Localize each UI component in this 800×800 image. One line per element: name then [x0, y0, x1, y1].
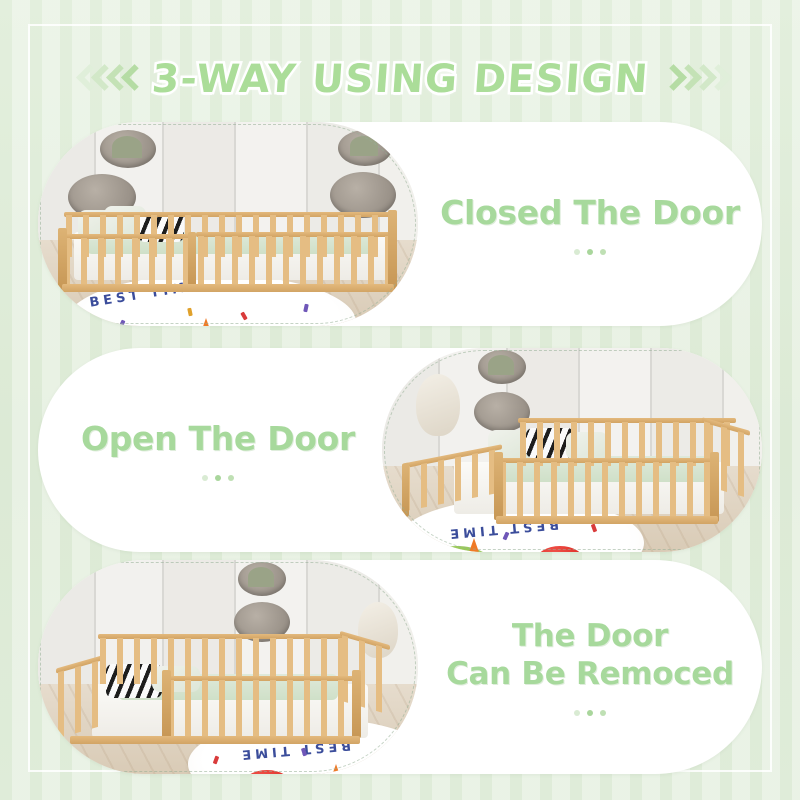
card-caption-block: Closed The Door	[418, 122, 762, 326]
chevron-left-icon	[93, 64, 108, 94]
feature-card: Open The Door BEST TIME	[38, 348, 762, 552]
chevron-right-icon	[662, 64, 677, 94]
caption-text: Open The Door	[81, 419, 355, 459]
plush-toy	[248, 567, 274, 587]
door-opening-gap	[68, 678, 168, 682]
chevron-right-icon	[692, 64, 707, 94]
bed-slats-front	[198, 236, 390, 284]
bed-base-frame	[70, 736, 360, 744]
chevron-left-icon	[78, 64, 93, 94]
bed-slats-front	[168, 680, 354, 736]
dot	[215, 475, 221, 481]
party-hat-graphic	[328, 764, 344, 774]
plush-toy	[112, 136, 142, 158]
balloon-graphic	[242, 770, 292, 774]
dot	[574, 249, 580, 255]
dot-indicator	[574, 249, 606, 255]
bed-post	[388, 210, 397, 290]
chevron-left-icon	[108, 64, 123, 94]
wall-niche	[338, 130, 392, 166]
dot	[587, 249, 593, 255]
wall-niche	[100, 130, 156, 168]
room-scene: BEST TIME	[38, 122, 418, 326]
plush-toy	[488, 355, 514, 375]
dot	[600, 249, 606, 255]
bed-post	[352, 670, 361, 738]
bed-post	[58, 228, 67, 290]
poster-root: 3-WAY USING DESIGN	[0, 0, 800, 800]
caption-group: The Door Can Be Remoced	[446, 618, 734, 694]
bed-base-frame	[496, 516, 718, 524]
product-photo: BEST TIME	[38, 122, 418, 326]
caption-text: Closed The Door	[440, 193, 740, 233]
caption-text-line2: Can Be Remoced	[446, 656, 734, 694]
door-gate-slats	[64, 238, 192, 284]
room-scene: BEST TIME	[38, 560, 418, 774]
plush-toy	[350, 136, 378, 156]
floor-bed	[402, 402, 758, 532]
dot	[202, 475, 208, 481]
door-gate-latch-post	[188, 232, 196, 286]
confetti	[240, 312, 247, 321]
party-hat-graphic	[466, 538, 482, 552]
dot	[228, 475, 234, 481]
product-photo: BEST TIME	[382, 348, 762, 552]
floor-bed	[52, 198, 402, 302]
chevron-left-group	[78, 64, 138, 94]
confetti	[187, 308, 193, 317]
feature-card: BEST TIME	[38, 560, 762, 774]
bed-post	[710, 452, 719, 522]
card-caption-block: Open The Door	[38, 348, 398, 552]
caption-text-line1: The Door	[446, 618, 734, 656]
balloon-graphic	[536, 546, 584, 552]
chevron-right-group	[662, 64, 722, 94]
bed-post	[494, 452, 503, 520]
bed-post	[162, 670, 171, 738]
card-caption-block: The Door Can Be Remoced	[418, 560, 762, 774]
dot-indicator	[574, 710, 606, 716]
bed-base-frame	[62, 284, 394, 292]
chevron-left-icon	[123, 64, 138, 94]
wall-niche	[478, 350, 526, 384]
party-hat-graphic	[198, 318, 214, 326]
door-gate-slats	[404, 449, 500, 512]
dot	[587, 710, 593, 716]
crocodile-graphic	[420, 546, 494, 552]
product-photo: BEST TIME	[38, 560, 418, 774]
wall-niche	[238, 562, 286, 596]
bed-slats-left	[58, 660, 102, 739]
door-gate-hinge-post	[402, 462, 409, 517]
dot	[574, 710, 580, 716]
page-title: 3-WAY USING DESIGN	[150, 57, 650, 102]
dot-indicator	[202, 475, 234, 481]
poster-header: 3-WAY USING DESIGN	[0, 46, 800, 112]
confetti	[119, 320, 126, 326]
feature-card: BEST TIME	[38, 122, 762, 326]
chevron-right-icon	[707, 64, 722, 94]
dot	[600, 710, 606, 716]
confetti	[383, 762, 388, 770]
bed-slats-front	[500, 462, 712, 518]
room-scene: BEST TIME	[382, 348, 762, 552]
chevron-right-icon	[677, 64, 692, 94]
confetti	[303, 304, 309, 313]
floor-bed	[48, 618, 408, 750]
confetti	[213, 756, 219, 765]
